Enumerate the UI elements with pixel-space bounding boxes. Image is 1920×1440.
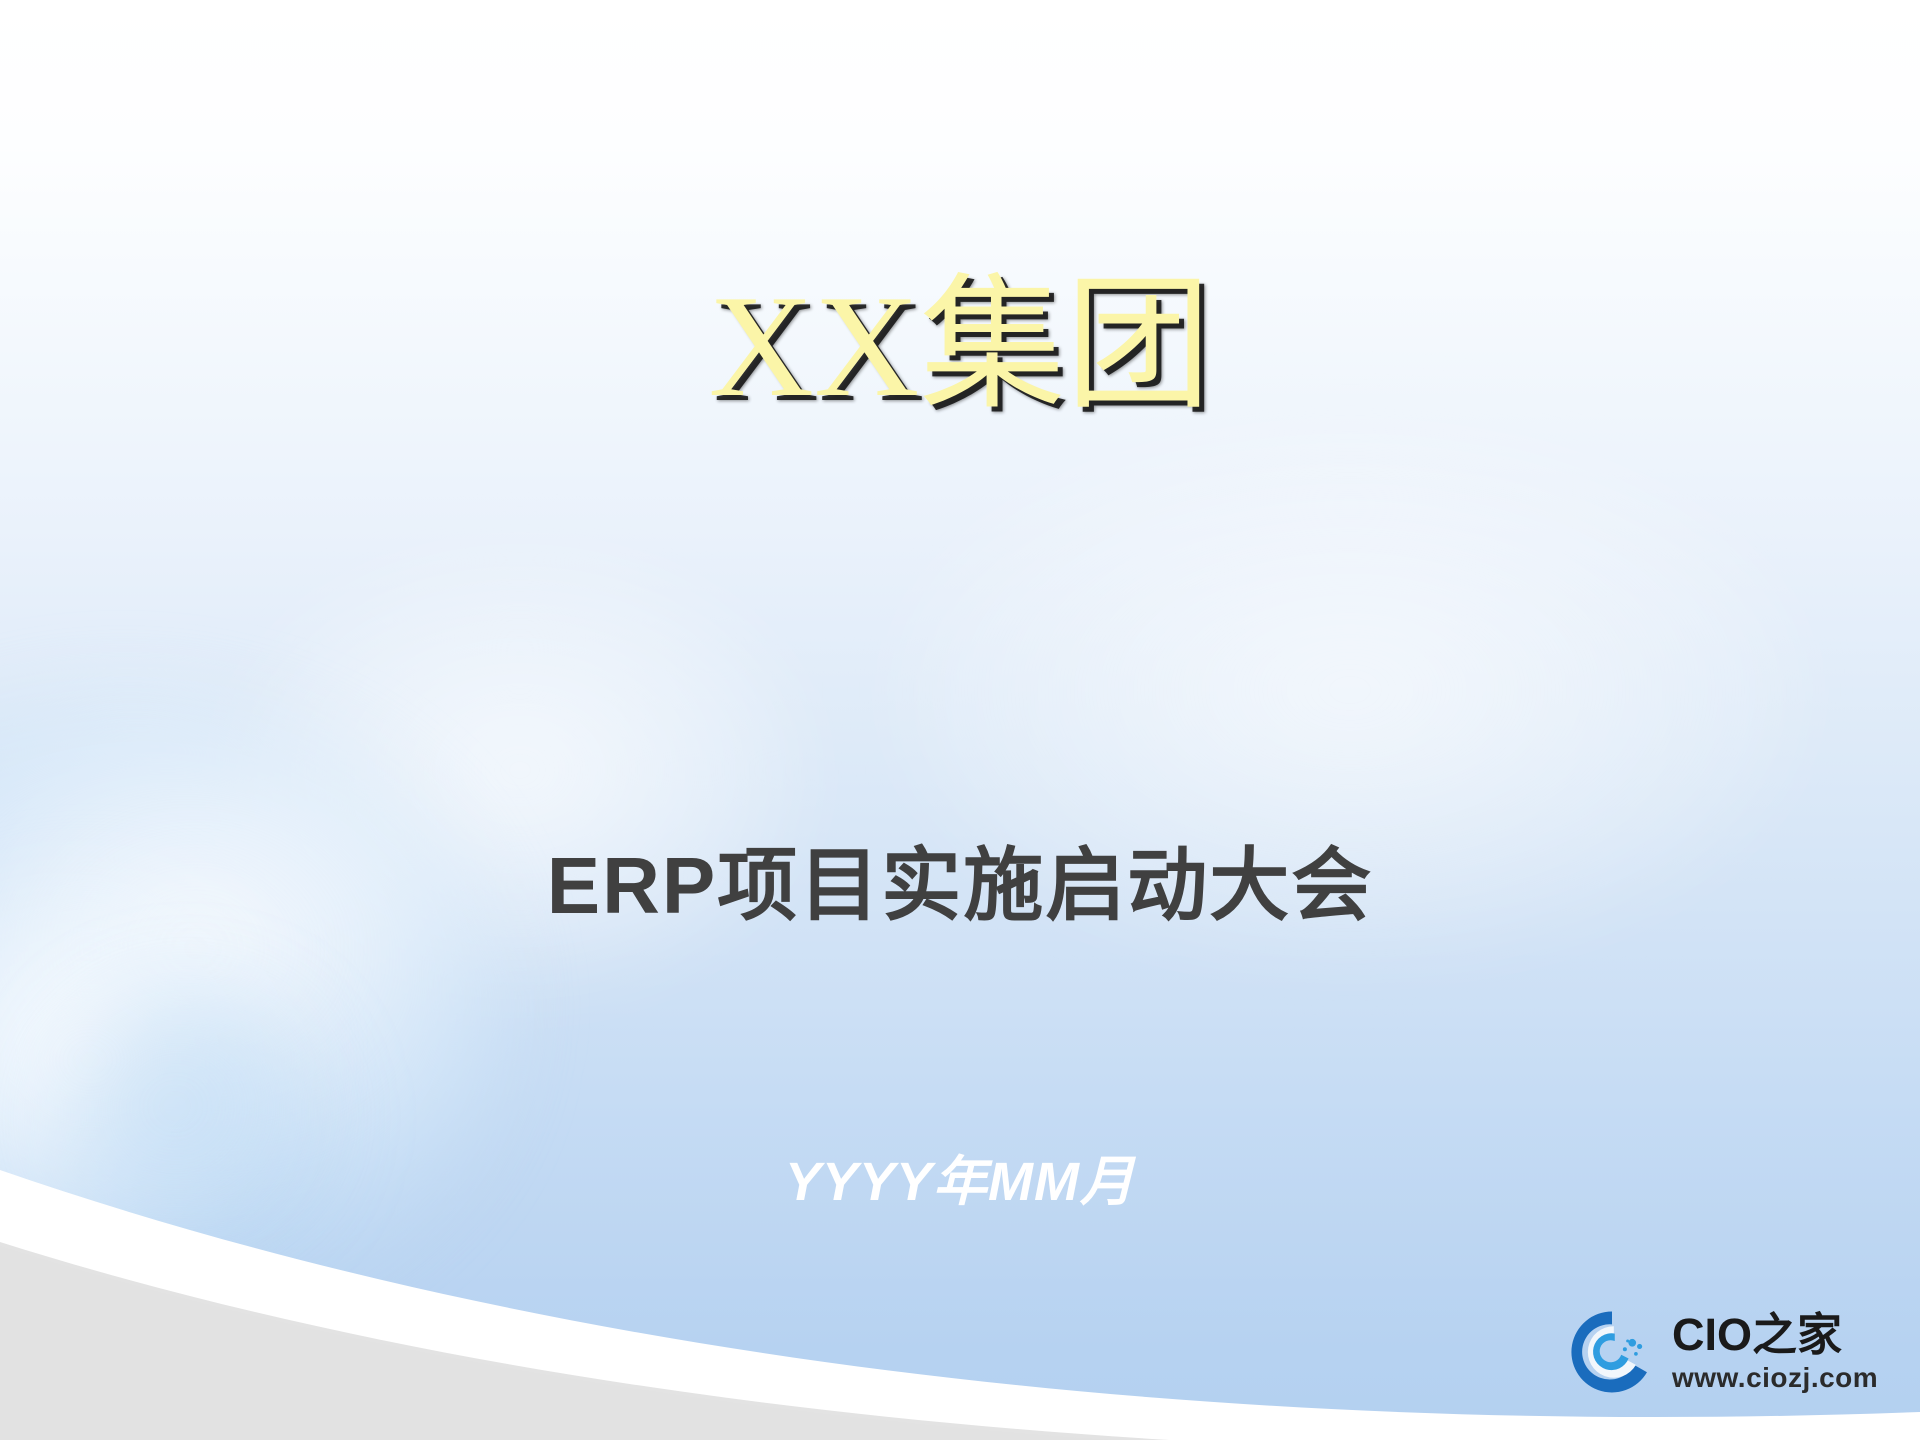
slide-title: XX集团: [709, 268, 1212, 426]
cio-circle-c-logo-icon: [1566, 1306, 1658, 1398]
slide-title-container: XX集团: [0, 268, 1920, 426]
presentation-slide: XX集团 ERP项目实施启动大会 YYYY年MM月 CIO之家 www.cioz…: [0, 0, 1920, 1440]
slide-subtitle: ERP项目实施启动大会: [547, 840, 1374, 932]
logo-url: www.ciozj.com: [1672, 1364, 1878, 1392]
logo-name: CIO之家: [1672, 1312, 1878, 1357]
cio-home-logo[interactable]: CIO之家 www.ciozj.com: [1566, 1296, 1896, 1408]
slide-date: YYYY年MM月: [785, 1150, 1135, 1215]
slide-subtitle-container: ERP项目实施启动大会: [0, 840, 1920, 932]
logo-text-block: CIO之家 www.ciozj.com: [1672, 1312, 1878, 1392]
slide-date-container: YYYY年MM月: [0, 1150, 1920, 1215]
